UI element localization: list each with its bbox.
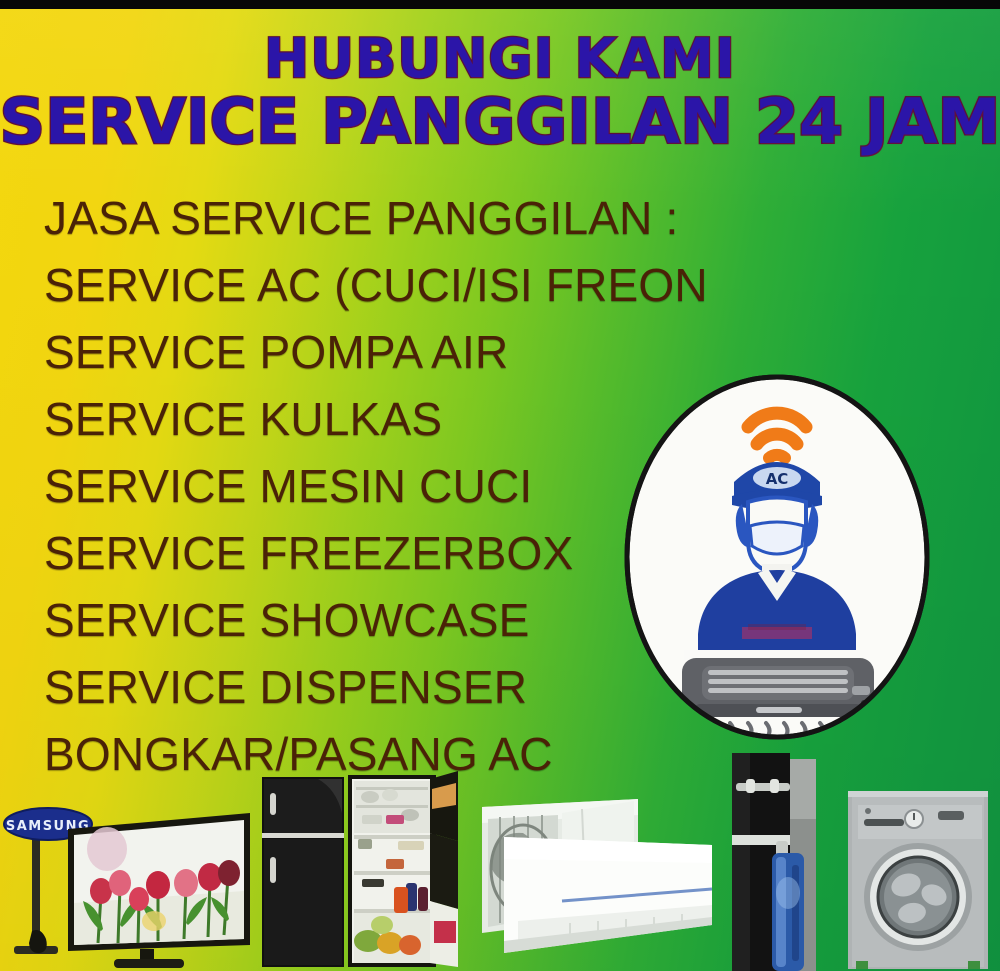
headline-line-2: SERVICE PANGGILAN 24 JAM	[0, 90, 1000, 153]
television-image: SAMSUNG	[2, 791, 254, 969]
poster-canvas: HUBUNGI KAMI SERVICE PANGGILAN 24 JAM JA…	[0, 9, 1000, 971]
service-advertisement-poster: HUBUNGI KAMI SERVICE PANGGILAN 24 JAM JA…	[0, 0, 1000, 971]
services-heading: JASA SERVICE PANGGILAN :	[44, 185, 804, 252]
ac-technician-badge-icon: AC	[624, 374, 930, 740]
ac-unit-icon	[682, 658, 874, 717]
appliance-photo-row: SAMSUNG	[0, 771, 1000, 971]
headline-line-1: HUBUNGI KAMI	[0, 31, 1000, 86]
air-conditioner-image	[462, 793, 722, 965]
water-bottle-icon	[772, 853, 804, 971]
water-dispenser-image	[718, 753, 840, 971]
service-item-ac: SERVICE AC (CUCI/ISI FREON	[44, 252, 804, 319]
refrigerator-image	[258, 771, 466, 971]
washing-machine-image	[842, 783, 998, 969]
top-black-bar	[0, 0, 1000, 9]
ac-indoor-unit-icon	[504, 837, 712, 953]
headline-block: HUBUNGI KAMI SERVICE PANGGILAN 24 JAM	[0, 31, 1000, 153]
cap-badge-label: AC	[766, 470, 789, 488]
